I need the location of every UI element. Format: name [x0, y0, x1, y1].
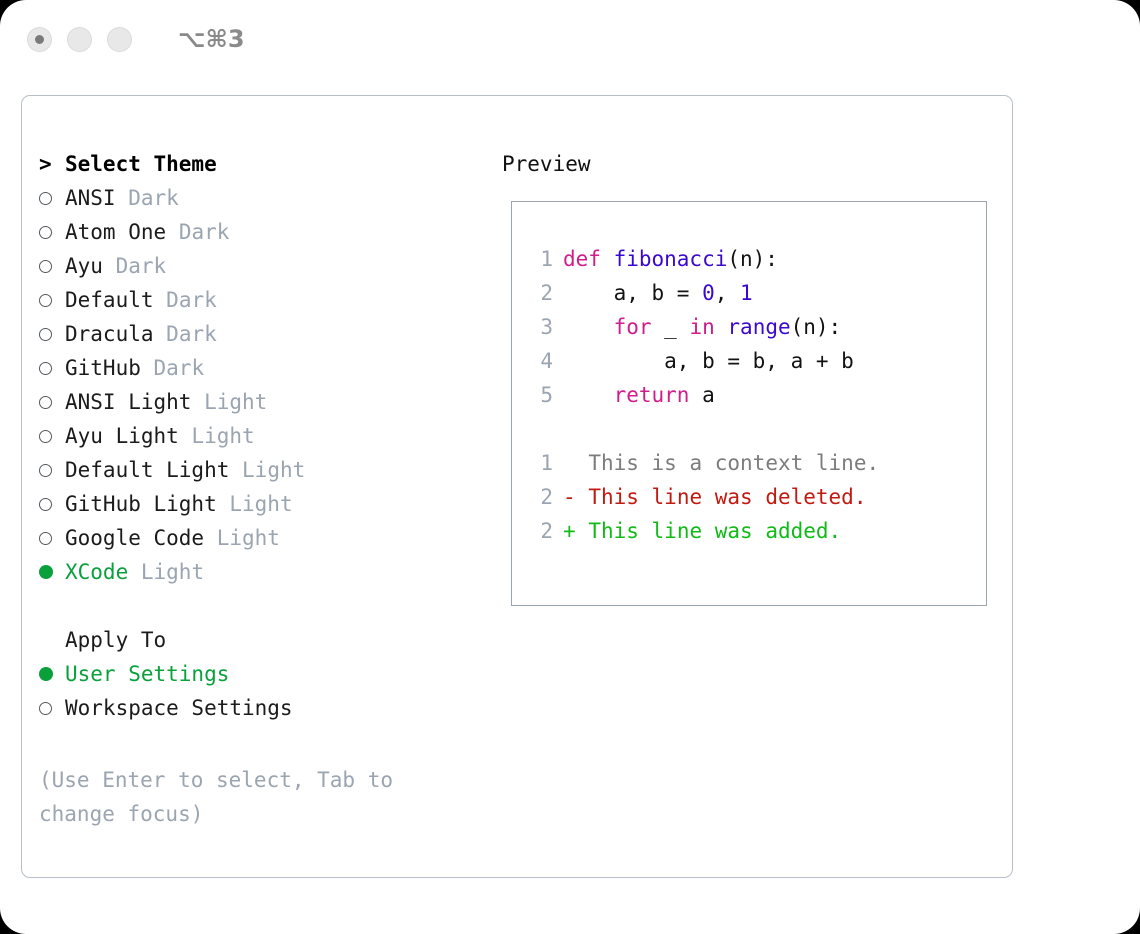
radio-unselected-icon[interactable]: [39, 294, 65, 307]
theme-list-item[interactable]: Ayu Light Light: [39, 419, 479, 453]
apply-to-header-label: Apply To: [65, 623, 166, 657]
radio-glyph: [39, 260, 52, 273]
code-line-number: 2: [523, 276, 553, 310]
theme-name-label: GitHub: [65, 351, 141, 385]
radio-unselected-icon[interactable]: [39, 362, 65, 375]
code-line: 2 a, b = 0, 1: [523, 276, 978, 310]
code-token: a, b =: [563, 281, 702, 305]
diff-line-number: 2: [523, 480, 553, 514]
diff-marker: -: [563, 480, 576, 514]
preview-column: Preview 1def fibonacci(n):2 a, b = 0, 13…: [502, 147, 992, 181]
code-line: 5 return a: [523, 378, 978, 412]
window-dot-2[interactable]: [67, 27, 92, 52]
theme-name-label: ANSI Light: [65, 385, 191, 419]
theme-list-item[interactable]: Ayu Dark: [39, 249, 479, 283]
code-line-content: return a: [563, 378, 715, 412]
window-dot-3[interactable]: [107, 27, 132, 52]
theme-list-item[interactable]: GitHub Light Light: [39, 487, 479, 521]
diff-line-text: This line was added.: [588, 514, 841, 548]
radio-glyph: [39, 396, 52, 409]
window-dot-active-indicator: [35, 35, 44, 44]
code-token: a: [689, 383, 714, 407]
radio-glyph: [39, 226, 52, 239]
code-token: [715, 315, 728, 339]
radio-glyph: [39, 565, 53, 579]
diff-marker: +: [563, 514, 576, 548]
code-line-content: def fibonacci(n):: [563, 242, 778, 276]
code-token: fibonacci: [614, 247, 728, 271]
theme-list-item[interactable]: Dracula Dark: [39, 317, 479, 351]
radio-glyph: [39, 464, 52, 477]
apply-to-option[interactable]: Workspace Settings: [39, 691, 479, 725]
diff-line-text: This is a context line.: [588, 446, 879, 480]
radio-unselected-icon[interactable]: [39, 192, 65, 205]
select-theme-header: >Select Theme: [39, 147, 479, 181]
diff-line: 1 This is a context line.: [523, 446, 978, 480]
apply-to-list: User SettingsWorkspace Settings: [39, 657, 479, 725]
apply-to-option-label: Workspace Settings: [65, 691, 293, 725]
window-titlebar: ⌥⌘3: [0, 0, 1140, 78]
radio-glyph: [39, 702, 52, 715]
theme-kind-label: Dark: [166, 317, 217, 351]
radio-glyph: [39, 294, 52, 307]
code-token: def: [563, 247, 614, 271]
radio-glyph: [39, 498, 52, 511]
code-token: [563, 315, 614, 339]
radio-glyph: [39, 667, 53, 681]
code-line-number: 4: [523, 344, 553, 378]
code-line-number: 3: [523, 310, 553, 344]
preview-box: 1def fibonacci(n):2 a, b = 0, 13 for _ i…: [511, 201, 987, 606]
radio-unselected-icon[interactable]: [39, 498, 65, 511]
code-token: [563, 383, 614, 407]
theme-name-label: GitHub Light: [65, 487, 217, 521]
code-token: 1: [740, 281, 753, 305]
radio-glyph: [39, 532, 52, 545]
radio-glyph: [39, 362, 52, 375]
theme-name-label: XCode: [65, 555, 128, 589]
apply-to-option[interactable]: User Settings: [39, 657, 479, 691]
code-token: (n):: [791, 315, 842, 339]
radio-unselected-icon[interactable]: [39, 430, 65, 443]
code-line: 3 for _ in range(n):: [523, 310, 978, 344]
diff-line: 2+ This line was added.: [523, 514, 978, 548]
theme-kind-label: Light: [217, 521, 280, 555]
code-preview: 1def fibonacci(n):2 a, b = 0, 13 for _ i…: [523, 242, 978, 548]
theme-name-label: ANSI: [65, 181, 116, 215]
theme-name-label: Default: [65, 283, 154, 317]
radio-unselected-icon[interactable]: [39, 702, 65, 715]
select-theme-header-label: Select Theme: [65, 147, 217, 181]
apply-to-option-label: User Settings: [65, 657, 229, 691]
theme-list-item[interactable]: Google Code Light: [39, 521, 479, 555]
theme-list-item[interactable]: Default Light Light: [39, 453, 479, 487]
list-spacer: [39, 589, 479, 623]
theme-name-label: Ayu: [65, 249, 103, 283]
code-token: (n):: [727, 247, 778, 271]
code-line-number: 1: [523, 242, 553, 276]
radio-unselected-icon[interactable]: [39, 396, 65, 409]
theme-kind-label: Dark: [154, 351, 205, 385]
theme-kind-label: Dark: [128, 181, 179, 215]
radio-unselected-icon[interactable]: [39, 328, 65, 341]
theme-name-label: Dracula: [65, 317, 154, 351]
theme-kind-label: Dark: [179, 215, 230, 249]
code-line: 4 a, b = b, a + b: [523, 344, 978, 378]
diff-line: 2- This line was deleted.: [523, 480, 978, 514]
theme-list-item[interactable]: XCode Light: [39, 555, 479, 589]
code-line-content: for _ in range(n):: [563, 310, 841, 344]
code-line-content: a, b = 0, 1: [563, 276, 753, 310]
code-token: a, b = b, a + b: [563, 349, 854, 373]
theme-kind-label: Light: [229, 487, 292, 521]
diff-line-number: 2: [523, 514, 553, 548]
radio-unselected-icon[interactable]: [39, 260, 65, 273]
code-token: _: [652, 315, 690, 339]
app-window: ⌥⌘3 >Select Theme ANSI DarkAtom One Dark…: [0, 0, 1140, 934]
code-token: return: [614, 383, 690, 407]
theme-kind-label: Light: [242, 453, 305, 487]
caret-icon: >: [39, 147, 65, 181]
keyboard-hint: (Use Enter to select, Tab to change focu…: [39, 763, 449, 831]
code-blank-line: [523, 412, 978, 446]
theme-kind-label: Light: [191, 419, 254, 453]
theme-list-item[interactable]: ANSI Dark: [39, 181, 479, 215]
radio-glyph: [39, 328, 52, 341]
code-token: range: [727, 315, 790, 339]
radio-selected-icon[interactable]: [39, 667, 65, 681]
code-line-content: a, b = b, a + b: [563, 344, 854, 378]
main-panel: >Select Theme ANSI DarkAtom One DarkAyu …: [21, 95, 1013, 878]
code-token: in: [689, 315, 714, 339]
radio-glyph: [39, 192, 52, 205]
theme-kind-label: Light: [141, 555, 204, 589]
theme-kind-label: Dark: [166, 283, 217, 317]
theme-name-label: Ayu Light: [65, 419, 179, 453]
theme-selector-column: >Select Theme ANSI DarkAtom One DarkAyu …: [39, 147, 479, 725]
keyboard-shortcut-label: ⌥⌘3: [178, 25, 245, 53]
code-token: ,: [715, 281, 740, 305]
radio-unselected-icon[interactable]: [39, 532, 65, 545]
theme-name-label: Default Light: [65, 453, 229, 487]
radio-unselected-icon[interactable]: [39, 464, 65, 477]
code-line-number: 5: [523, 378, 553, 412]
theme-name-label: Atom One: [65, 215, 166, 249]
apply-to-header: Apply To: [39, 623, 479, 657]
preview-title: Preview: [502, 147, 992, 181]
theme-kind-label: Light: [204, 385, 267, 419]
diff-line-number: 1: [523, 446, 553, 480]
diff-line-text: This line was deleted.: [588, 480, 866, 514]
theme-name-label: Google Code: [65, 521, 204, 555]
theme-list-item[interactable]: ANSI Light Light: [39, 385, 479, 419]
radio-selected-icon[interactable]: [39, 565, 65, 579]
code-token: for: [614, 315, 652, 339]
diff-marker: [563, 446, 576, 480]
theme-list-item[interactable]: Default Dark: [39, 283, 479, 317]
theme-list-item[interactable]: Atom One Dark: [39, 215, 479, 249]
code-token: 0: [702, 281, 715, 305]
radio-glyph: [39, 430, 52, 443]
radio-unselected-icon[interactable]: [39, 226, 65, 239]
theme-list: ANSI DarkAtom One DarkAyu DarkDefault Da…: [39, 181, 479, 589]
code-line: 1def fibonacci(n):: [523, 242, 978, 276]
theme-kind-label: Dark: [116, 249, 167, 283]
window-dot-active[interactable]: [27, 27, 52, 52]
theme-list-item[interactable]: GitHub Dark: [39, 351, 479, 385]
